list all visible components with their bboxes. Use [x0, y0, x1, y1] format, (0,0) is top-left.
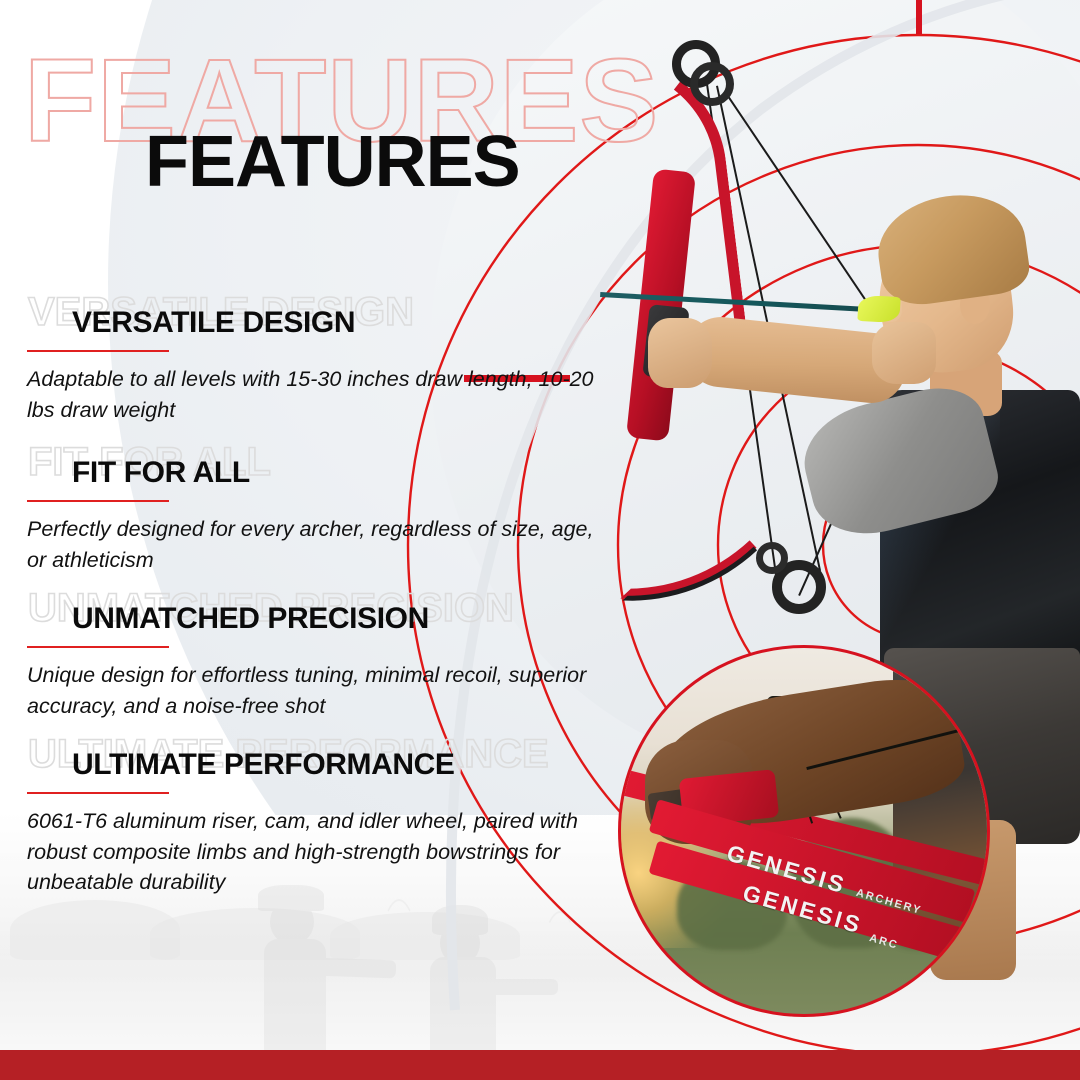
feature-rule: [27, 646, 169, 648]
photo-inset-bow-closeup: GENESIS ARCHERY GENESIS ARC: [618, 645, 990, 1017]
content-column: FEATURES FEATURES VERSATILE DESIGN VERSA…: [0, 0, 640, 1080]
feature-body: 6061-T6 aluminum riser, cam, and idler w…: [27, 806, 617, 898]
bowstring-3: [724, 91, 877, 316]
feature-poster: GENESIS ARCHERY GENESIS ARC FEATURES FEA…: [0, 0, 1080, 1080]
feature-rule: [27, 792, 169, 794]
page-title: FEATURES: [145, 126, 520, 198]
feature-title: ULTIMATE PERFORMANCE: [72, 750, 455, 780]
footer-bar: [0, 1050, 1080, 1080]
bow-cam-axle: [756, 542, 788, 574]
feature-rule: [27, 500, 169, 502]
feature-title: VERSATILE DESIGN: [72, 308, 355, 338]
boy-hair: [871, 186, 1032, 310]
page-header: FEATURES FEATURES: [0, 42, 640, 212]
bow-idler-wheel-inner: [690, 62, 734, 106]
boy-draw-hand: [872, 322, 936, 384]
feature-body: Unique design for effortless tuning, min…: [27, 660, 617, 721]
boy-bow-hand: [648, 318, 712, 388]
feature-title: UNMATCHED PRECISION: [72, 604, 429, 634]
accent-tick-top: [916, 0, 922, 34]
feature-body: Perfectly designed for every archer, reg…: [27, 514, 617, 575]
feature-rule: [27, 350, 169, 352]
feature-title: FIT FOR ALL: [72, 458, 250, 488]
feature-body: Adaptable to all levels with 15-30 inche…: [27, 364, 617, 425]
